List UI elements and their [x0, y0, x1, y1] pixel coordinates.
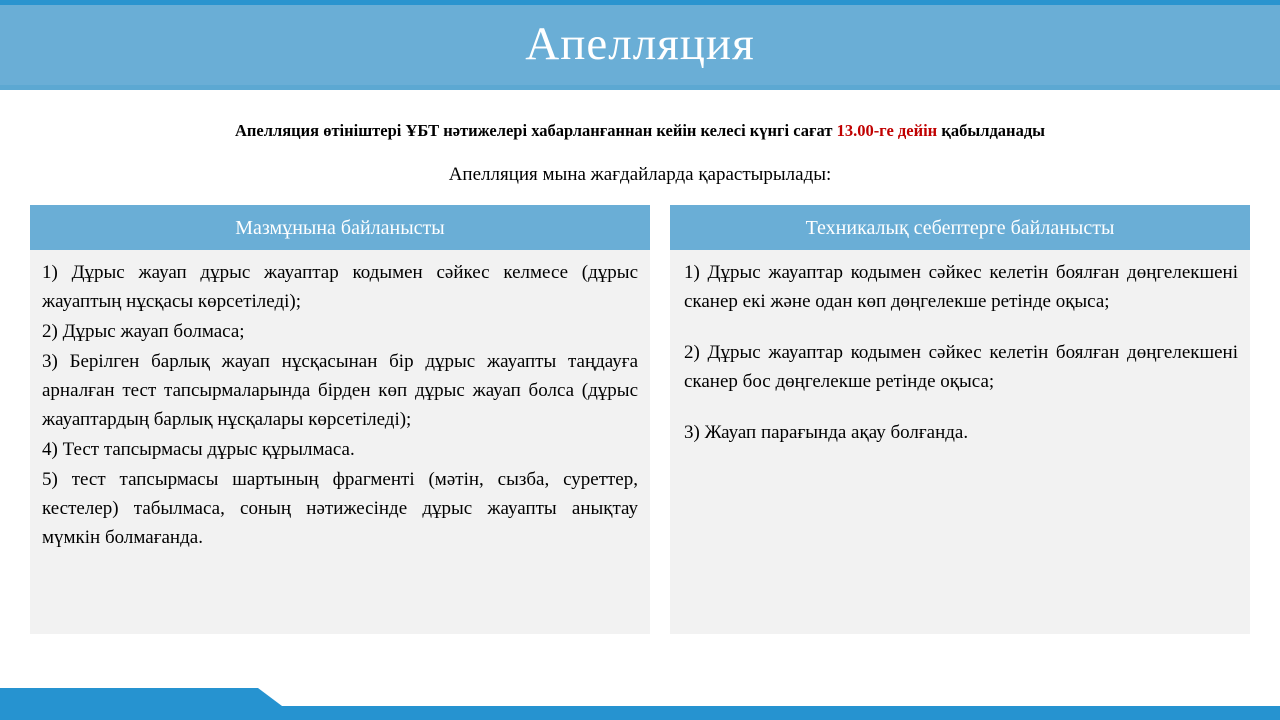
intro-conditions-text: Апелляция мына жағдайларда қарастырылады… — [0, 162, 1280, 188]
list-item: 1) Дұрыс жауаптар кодымен сәйкес келетін… — [684, 258, 1238, 316]
column-technical-reasons: Техникалық себептерге байланысты 1) Дұры… — [670, 205, 1250, 634]
slide-title: Апелляция — [0, 15, 1280, 73]
list-item: 3) Берілген барлық жауап нұсқасынан бір … — [42, 347, 638, 434]
list-item: 4) Тест тапсырмасы дұрыс құрылмаса. — [42, 435, 638, 464]
intro-deadline-highlight: 13.00-ге дейін — [837, 121, 938, 140]
list-item: 3) Жауап парағында ақау болғанда. — [684, 418, 1238, 447]
column-body-content-reasons: 1) Дұрыс жауап дұрыс жауаптар кодымен сә… — [30, 250, 650, 634]
column-header-content-reasons: Мазмұнына байланысты — [30, 205, 650, 250]
intro-deadline-prefix: Апелляция өтініштері ҰБТ нәтижелері хаба… — [235, 121, 837, 140]
conditions-table: Мазмұнына байланысты 1) Дұрыс жауап дұры… — [30, 205, 1250, 634]
intro-deadline-text: Апелляция өтініштері ҰБТ нәтижелері хаба… — [0, 120, 1280, 142]
list-item: 2) Дұрыс жауап болмаса; — [42, 317, 638, 346]
column-body-technical-reasons: 1) Дұрыс жауаптар кодымен сәйкес келетін… — [670, 250, 1250, 634]
column-content-reasons: Мазмұнына байланысты 1) Дұрыс жауап дұры… — [30, 205, 650, 634]
footer-accent-strip — [0, 706, 1280, 720]
header-top-accent-line — [0, 0, 1280, 5]
column-header-technical-reasons: Техникалық себептерге байланысты — [670, 205, 1250, 250]
list-item: 2) Дұрыс жауаптар кодымен сәйкес келетін… — [684, 338, 1238, 396]
list-item: 1) Дұрыс жауап дұрыс жауаптар кодымен сә… — [42, 258, 638, 316]
list-item: 5) тест тапсырмасы шартының фрагменті (м… — [42, 465, 638, 552]
header-bottom-accent-line — [0, 85, 1280, 90]
intro-deadline-suffix: қабылданады — [937, 121, 1045, 140]
